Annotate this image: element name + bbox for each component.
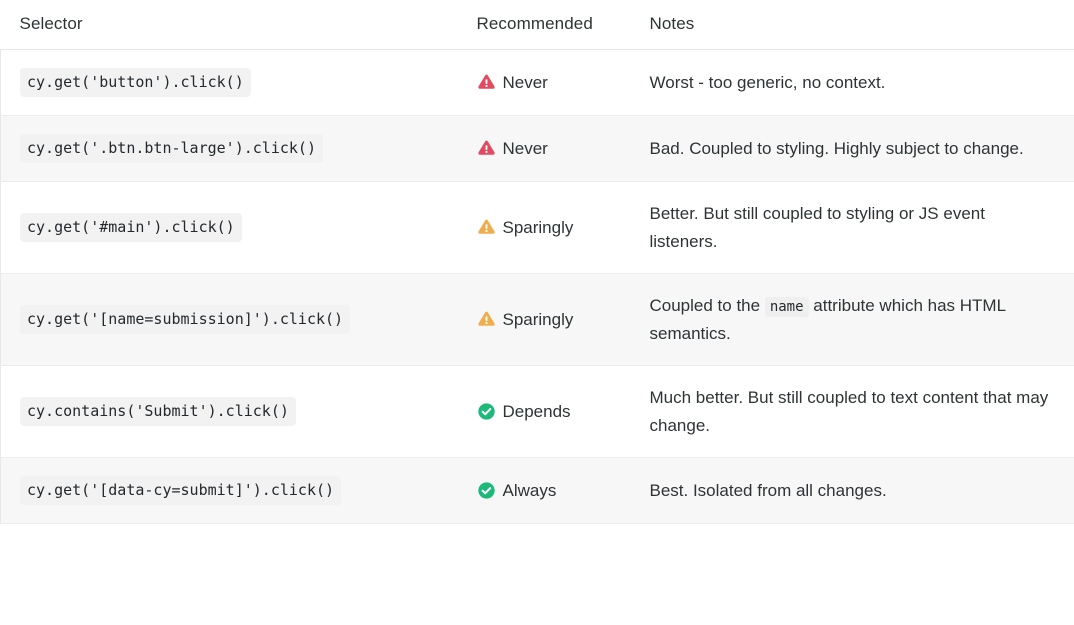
- notes-text-part: Bad. Coupled to styling. Highly subject …: [650, 139, 1024, 158]
- cell-selector: cy.get('#main').click(): [1, 182, 463, 274]
- notes-inline-code-chip: name: [765, 297, 809, 317]
- cell-recommended: Sparingly: [463, 182, 639, 274]
- status-badge-label: Never: [503, 73, 548, 93]
- cell-recommended: Always: [463, 458, 639, 524]
- status-badge-label: Sparingly: [503, 310, 574, 330]
- selector-code-chip: cy.contains('Submit').click(): [20, 397, 296, 426]
- selector-recommendation-table: Selector Recommended Notes cy.get('butto…: [0, 0, 1074, 524]
- column-header-selector: Selector: [1, 0, 463, 50]
- cell-selector: cy.get('.btn.btn-large').click(): [1, 116, 463, 182]
- cell-notes: Much better. But still coupled to text c…: [639, 366, 1074, 458]
- status-badge: Depends: [477, 402, 633, 422]
- table-row: cy.get('[name=submission]').click()Spari…: [1, 274, 1074, 366]
- cell-recommended: Never: [463, 116, 639, 182]
- column-header-notes: Notes: [639, 0, 1074, 50]
- notes-text: Better. But still coupled to styling or …: [650, 200, 1053, 255]
- status-badge: Never: [477, 139, 633, 159]
- table-header-row: Selector Recommended Notes: [1, 0, 1074, 50]
- status-badge-label: Never: [503, 139, 548, 159]
- column-header-recommended: Recommended: [463, 0, 639, 50]
- selector-code-chip: cy.get('[name=submission]').click(): [20, 305, 350, 334]
- cell-notes: Bad. Coupled to styling. Highly subject …: [639, 116, 1074, 182]
- table-body: cy.get('button').click()NeverWorst - too…: [1, 50, 1074, 524]
- cell-recommended: Sparingly: [463, 274, 639, 366]
- status-badge: Always: [477, 481, 633, 501]
- table-row: cy.get('#main').click()SparinglyBetter. …: [1, 182, 1074, 274]
- warning-triangle-icon: [477, 139, 496, 158]
- notes-text-part: Coupled to the: [650, 296, 761, 315]
- selector-code-chip: cy.get('[data-cy=submit]').click(): [20, 476, 341, 505]
- warning-triangle-icon: [477, 73, 496, 92]
- status-badge: Sparingly: [477, 310, 633, 330]
- notes-text-part: Better. But still coupled to styling or …: [650, 204, 985, 251]
- cell-notes: Worst - too generic, no context.: [639, 50, 1074, 116]
- notes-text: Bad. Coupled to styling. Highly subject …: [650, 135, 1053, 163]
- status-badge-label: Always: [503, 481, 557, 501]
- cell-recommended: Never: [463, 50, 639, 116]
- table-row: cy.get('button').click()NeverWorst - too…: [1, 50, 1074, 116]
- cell-selector: cy.get('[data-cy=submit]').click(): [1, 458, 463, 524]
- table-row: cy.contains('Submit').click()DependsMuch…: [1, 366, 1074, 458]
- selector-table-page: Selector Recommended Notes cy.get('butto…: [0, 0, 1074, 625]
- notes-text-part: Best. Isolated from all changes.: [650, 481, 887, 500]
- notes-text: Coupled to the name attribute which has …: [650, 292, 1053, 347]
- cell-notes: Coupled to the name attribute which has …: [639, 274, 1074, 366]
- check-circle-icon: [477, 481, 496, 500]
- table-header: Selector Recommended Notes: [1, 0, 1074, 50]
- notes-text: Worst - too generic, no context.: [650, 69, 1053, 97]
- notes-text-part: Worst - too generic, no context.: [650, 73, 886, 92]
- status-badge: Never: [477, 73, 633, 93]
- cell-recommended: Depends: [463, 366, 639, 458]
- status-badge-label: Depends: [503, 402, 571, 422]
- selector-code-chip: cy.get('.btn.btn-large').click(): [20, 134, 323, 163]
- check-circle-icon: [477, 402, 496, 421]
- cell-selector: cy.get('[name=submission]').click(): [1, 274, 463, 366]
- table-row: cy.get('.btn.btn-large').click()NeverBad…: [1, 116, 1074, 182]
- cell-selector: cy.contains('Submit').click(): [1, 366, 463, 458]
- cell-selector: cy.get('button').click(): [1, 50, 463, 116]
- table-row: cy.get('[data-cy=submit]').click()Always…: [1, 458, 1074, 524]
- notes-text-part: Much better. But still coupled to text c…: [650, 388, 1049, 435]
- cell-notes: Better. But still coupled to styling or …: [639, 182, 1074, 274]
- warning-triangle-amber-icon: [477, 218, 496, 237]
- selector-code-chip: cy.get('#main').click(): [20, 213, 242, 242]
- notes-text: Much better. But still coupled to text c…: [650, 384, 1053, 439]
- warning-triangle-amber-icon: [477, 310, 496, 329]
- notes-text: Best. Isolated from all changes.: [650, 477, 1053, 505]
- cell-notes: Best. Isolated from all changes.: [639, 458, 1074, 524]
- selector-code-chip: cy.get('button').click(): [20, 68, 251, 97]
- status-badge: Sparingly: [477, 218, 633, 238]
- status-badge-label: Sparingly: [503, 218, 574, 238]
